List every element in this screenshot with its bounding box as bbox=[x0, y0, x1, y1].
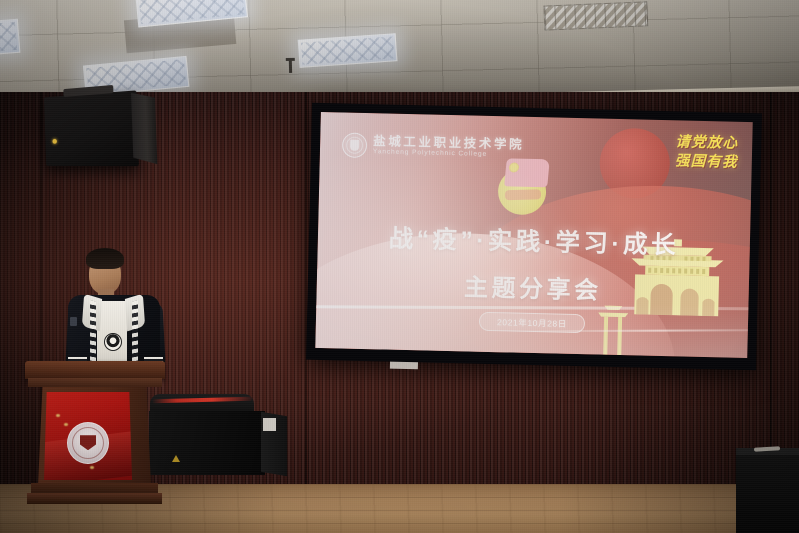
jacket-sleeve-patch bbox=[70, 317, 77, 326]
speaker-label-tag bbox=[263, 418, 276, 431]
jacket-stripe-right bbox=[132, 301, 138, 368]
lectern-top-surface bbox=[25, 361, 165, 379]
college-seal-icon bbox=[342, 132, 368, 158]
tshirt-graphic-print bbox=[104, 333, 122, 351]
banner-glint bbox=[90, 466, 94, 469]
side-cabinet bbox=[736, 452, 799, 533]
floor-monitor-speaker bbox=[149, 411, 265, 475]
wall-mounted-loudspeaker bbox=[44, 90, 139, 166]
communist-youth-league-emblem bbox=[493, 158, 552, 217]
speaker-hair bbox=[86, 248, 124, 269]
lectern-base-plinth bbox=[27, 493, 162, 504]
banner-glint bbox=[56, 414, 60, 417]
student-speaker bbox=[57, 245, 175, 375]
lectern-red-banner bbox=[44, 392, 132, 480]
warning-triangle-icon bbox=[172, 455, 180, 462]
slide-slogan: 请党放心 强国有我 bbox=[675, 133, 739, 173]
slide-date-badge: 2021年10月28日 bbox=[479, 312, 585, 333]
college-crest-icon bbox=[67, 422, 109, 464]
banner-glint bbox=[64, 423, 68, 426]
emblem-flag bbox=[504, 158, 550, 187]
lectern-top-edge bbox=[28, 378, 162, 387]
speaker-side-face bbox=[131, 93, 157, 165]
presentation-slide: 盐城工业职业技术学院 Yancheng Polytechnic College … bbox=[315, 112, 752, 358]
slogan-line-2: 强国有我 bbox=[675, 152, 738, 173]
projection-screen: 盐城工业职业技术学院 Yancheng Polytechnic College … bbox=[306, 103, 762, 371]
lecture-hall-scene: 盐城工业职业技术学院 Yancheng Polytechnic College … bbox=[0, 0, 799, 533]
emblem-banner-band bbox=[505, 189, 541, 200]
slogan-line-1: 请党放心 bbox=[675, 133, 738, 154]
speaker-led-indicator bbox=[52, 139, 57, 144]
wooden-lectern bbox=[25, 361, 165, 507]
jacket-stripe-left bbox=[90, 301, 96, 368]
